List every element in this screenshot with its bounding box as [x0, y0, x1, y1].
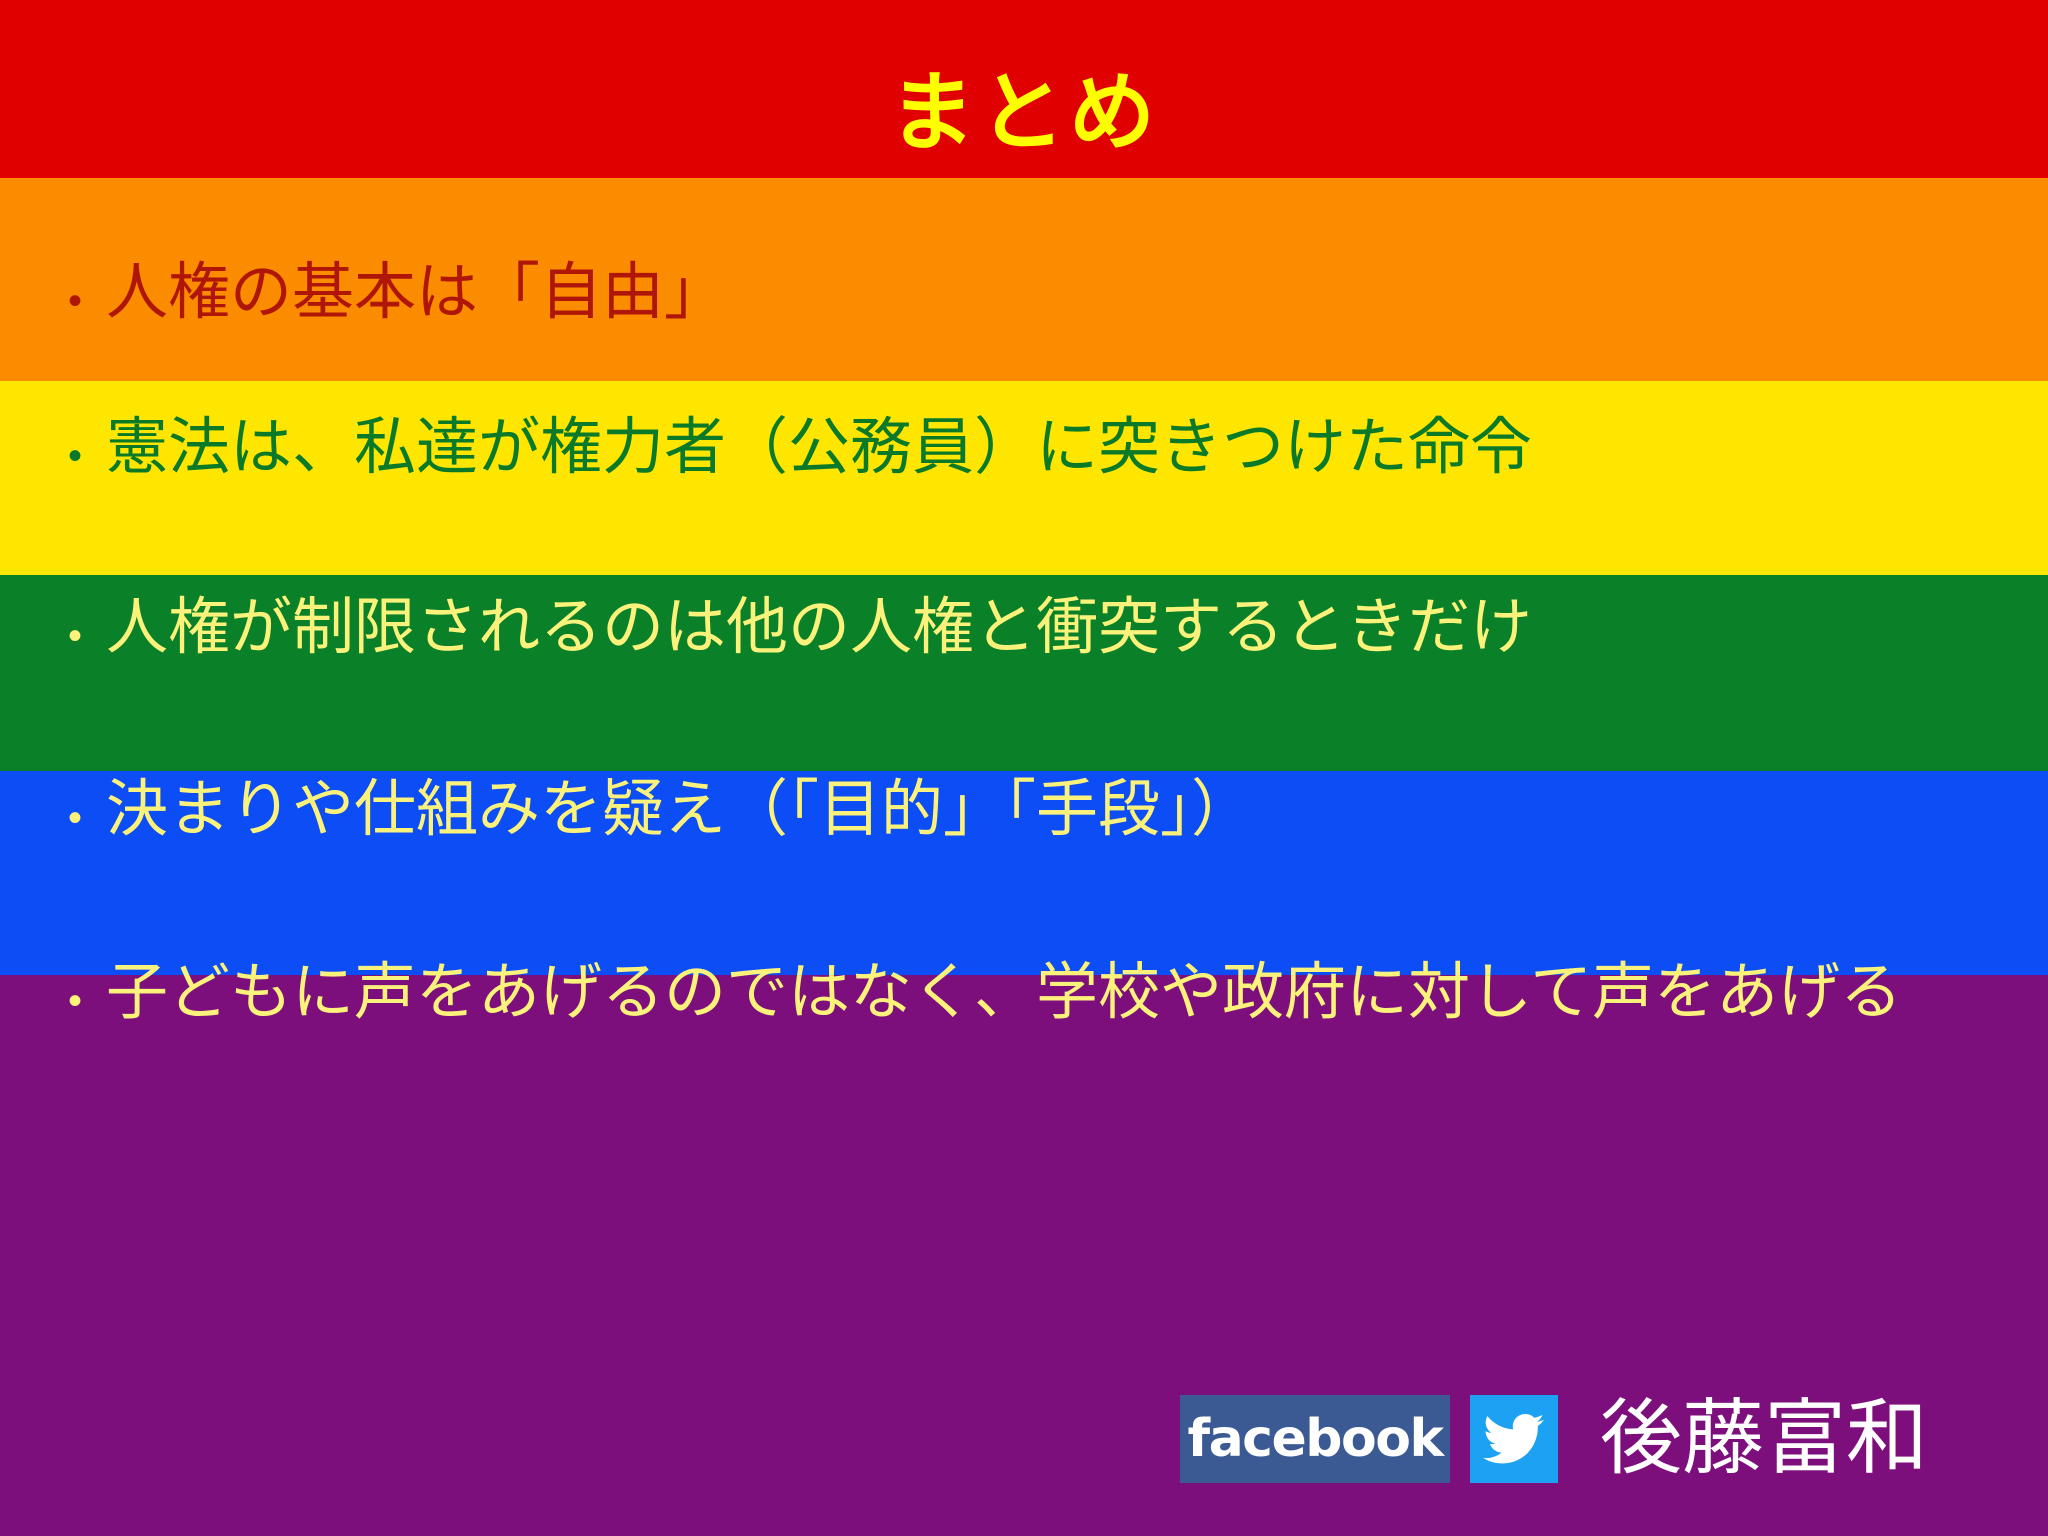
presentation-slide: まとめ • 人権の基本は「自由」 • 憲法は、私達が権力者（公務員）に突きつけた… — [0, 0, 2048, 1536]
bullet-item-5: • 子どもに声をあげるのではなく、学校や政府に対して声をあげる — [44, 955, 2024, 1031]
facebook-logo[interactable]: facebook — [1180, 1395, 1450, 1483]
bullet-text-2: 憲法は、私達が権力者（公務員）に突きつけた命令 — [106, 410, 2024, 486]
bullet-text-1: 人権の基本は「自由」 — [106, 255, 2024, 331]
bullet-item-2: • 憲法は、私達が権力者（公務員）に突きつけた命令 — [44, 410, 2024, 486]
bullet-marker-icon: • — [44, 255, 106, 321]
bullet-marker-icon: • — [44, 772, 106, 838]
twitter-bird-icon — [1483, 1408, 1545, 1470]
bullet-marker-icon: • — [44, 590, 106, 656]
bullet-text-3: 人権が制限されるのは他の人権と衝突するときだけ — [106, 590, 2024, 666]
footer-social-row: facebook 後藤富和 — [1180, 1395, 1928, 1483]
twitter-logo[interactable] — [1470, 1395, 1558, 1483]
bullet-text-4: 決まりや仕組みを疑え（「目的」「手段」） — [106, 772, 2024, 848]
facebook-wordmark-label: facebook — [1187, 1413, 1442, 1465]
author-name: 後藤富和 — [1600, 1398, 1928, 1480]
bullet-marker-icon: • — [44, 955, 106, 1021]
slide-content: まとめ • 人権の基本は「自由」 • 憲法は、私達が権力者（公務員）に突きつけた… — [0, 0, 2048, 1536]
bullet-text-5: 子どもに声をあげるのではなく、学校や政府に対して声をあげる — [106, 955, 2024, 1031]
bullet-item-3: • 人権が制限されるのは他の人権と衝突するときだけ — [44, 590, 2024, 666]
bullet-item-4: • 決まりや仕組みを疑え（「目的」「手段」） — [44, 772, 2024, 848]
slide-title: まとめ — [0, 70, 2048, 156]
bullet-item-1: • 人権の基本は「自由」 — [44, 255, 2024, 331]
bullet-marker-icon: • — [44, 410, 106, 476]
